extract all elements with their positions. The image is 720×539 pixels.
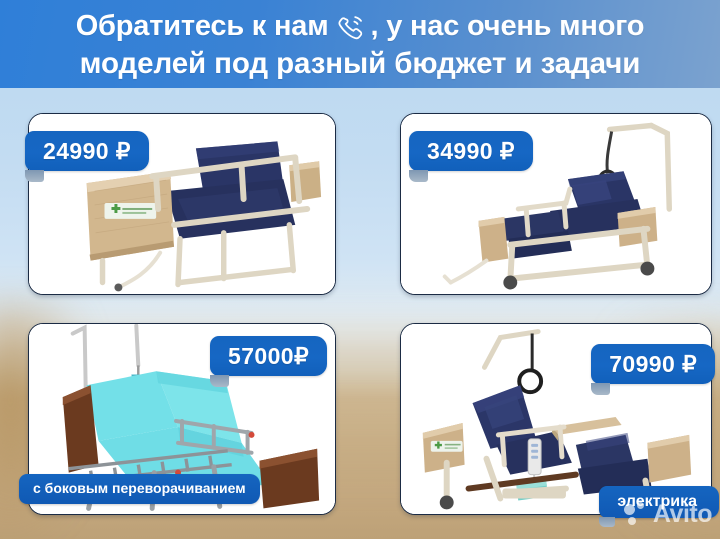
price-label-4: 70990 ₽: [609, 351, 697, 378]
price-tag-2: 34990 ₽: [409, 131, 533, 171]
header-text-after-icon: , у нас очень много: [370, 7, 644, 45]
header-banner: Обратитесь к нам , у нас очень много мод…: [0, 0, 720, 88]
price-label-2: 34990 ₽: [427, 138, 515, 165]
header-line-1: Обратитесь к нам , у нас очень много: [76, 7, 645, 45]
price-label-3: 57000₽: [228, 343, 309, 370]
product-card-2[interactable]: 34990 ₽: [400, 113, 712, 295]
feature-badge-electric: электрика: [599, 486, 719, 518]
price-tag-4: 70990 ₽: [591, 344, 715, 384]
product-card-1[interactable]: 24990 ₽: [28, 113, 336, 295]
product-card-4[interactable]: 70990 ₽ электрика: [400, 323, 712, 515]
feature-badge-side-turning: с боковым переворачиванием: [19, 474, 260, 504]
advertisement-banner: Обратитесь к нам , у нас очень много мод…: [0, 0, 720, 539]
header-text-before-icon: Обратитесь к нам: [76, 7, 329, 45]
phone-call-icon: [336, 13, 366, 43]
price-label-1: 24990 ₽: [43, 138, 131, 165]
product-card-3[interactable]: 57000₽ с боковым переворачиванием: [28, 323, 336, 515]
header-line-2: моделей под разный бюджет и задачи: [80, 45, 641, 83]
price-tag-1: 24990 ₽: [25, 131, 149, 171]
price-tag-3: 57000₽: [210, 336, 327, 376]
